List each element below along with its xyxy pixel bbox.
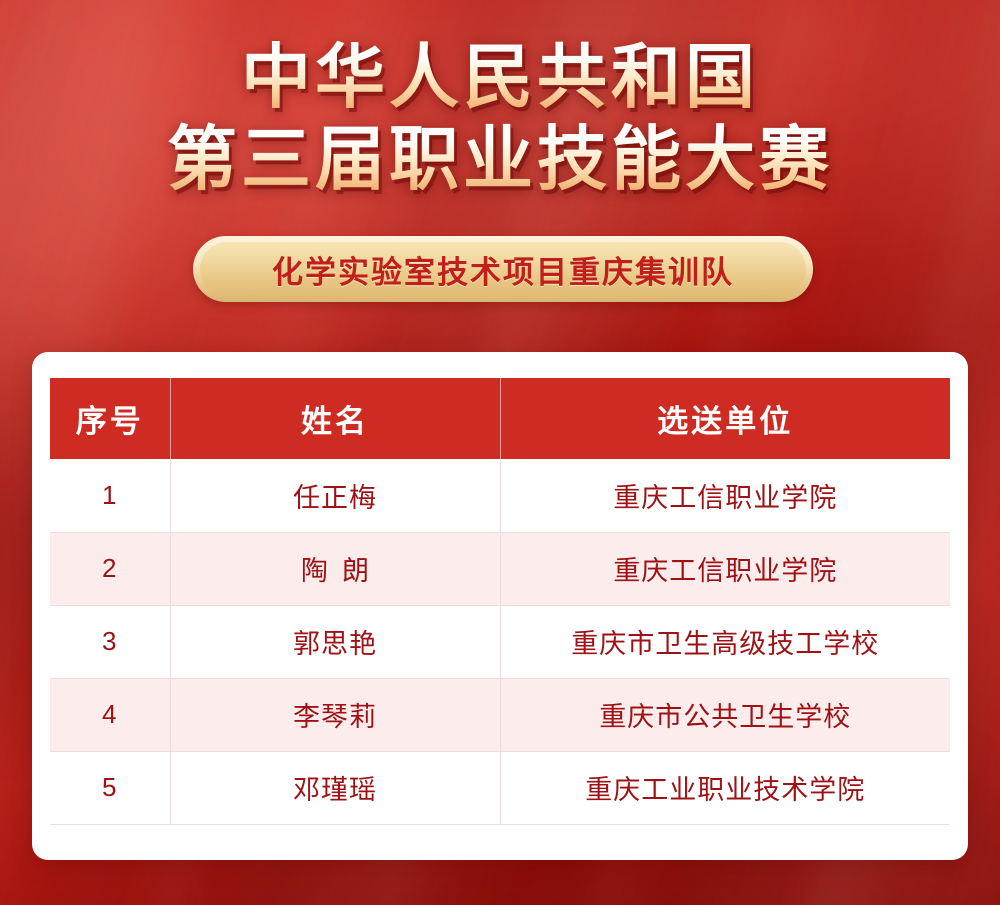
title-line-2: 第三届职业技能大赛 xyxy=(0,122,1000,196)
cell-unit: 重庆市卫生高级技工学校 xyxy=(500,605,950,678)
table-row: 5 邓瑾瑶 重庆工业职业技术学院 xyxy=(50,751,950,824)
badge-outer-ring: 化学实验室技术项目重庆集训队 xyxy=(193,236,813,302)
cell-name: 郭思艳 xyxy=(170,605,500,678)
cell-no: 2 xyxy=(50,532,170,605)
column-header-name: 姓名 xyxy=(170,378,500,459)
table-header-row: 序号 姓名 选送单位 xyxy=(50,378,950,459)
column-header-unit: 选送单位 xyxy=(500,378,950,459)
table-row: 2 陶朗 重庆工信职业学院 xyxy=(50,532,950,605)
table-row: 1 任正梅 重庆工信职业学院 xyxy=(50,459,950,532)
subtitle-badge: 化学实验室技术项目重庆集训队 xyxy=(193,236,813,302)
cell-unit: 重庆工业职业技术学院 xyxy=(500,751,950,824)
table-header: 序号 姓名 选送单位 xyxy=(50,378,950,459)
cell-no: 1 xyxy=(50,459,170,532)
cell-name: 李琴莉 xyxy=(170,678,500,751)
table-body: 1 任正梅 重庆工信职业学院 2 陶朗 重庆工信职业学院 3 郭思艳 重庆市卫生… xyxy=(50,459,950,824)
cell-no: 3 xyxy=(50,605,170,678)
cell-name: 任正梅 xyxy=(170,459,500,532)
cell-unit: 重庆市公共卫生学校 xyxy=(500,678,950,751)
roster-table: 序号 姓名 选送单位 1 任正梅 重庆工信职业学院 2 陶朗 重庆工信职业学院 … xyxy=(50,378,950,825)
cell-name: 陶朗 xyxy=(170,532,500,605)
cell-unit: 重庆工信职业学院 xyxy=(500,532,950,605)
cell-unit: 重庆工信职业学院 xyxy=(500,459,950,532)
column-header-no: 序号 xyxy=(50,378,170,459)
cell-no: 4 xyxy=(50,678,170,751)
roster-card: 序号 姓名 选送单位 1 任正梅 重庆工信职业学院 2 陶朗 重庆工信职业学院 … xyxy=(32,352,968,860)
badge-inner-fill: 化学实验室技术项目重庆集训队 xyxy=(200,242,806,296)
title-line-1: 中华人民共和国 xyxy=(0,40,1000,114)
cell-no: 5 xyxy=(50,751,170,824)
cell-name: 邓瑾瑶 xyxy=(170,751,500,824)
poster-title: 中华人民共和国 第三届职业技能大赛 xyxy=(0,40,1000,196)
table-row: 3 郭思艳 重庆市卫生高级技工学校 xyxy=(50,605,950,678)
badge-label: 化学实验室技术项目重庆集训队 xyxy=(272,247,734,292)
table-row: 4 李琴莉 重庆市公共卫生学校 xyxy=(50,678,950,751)
